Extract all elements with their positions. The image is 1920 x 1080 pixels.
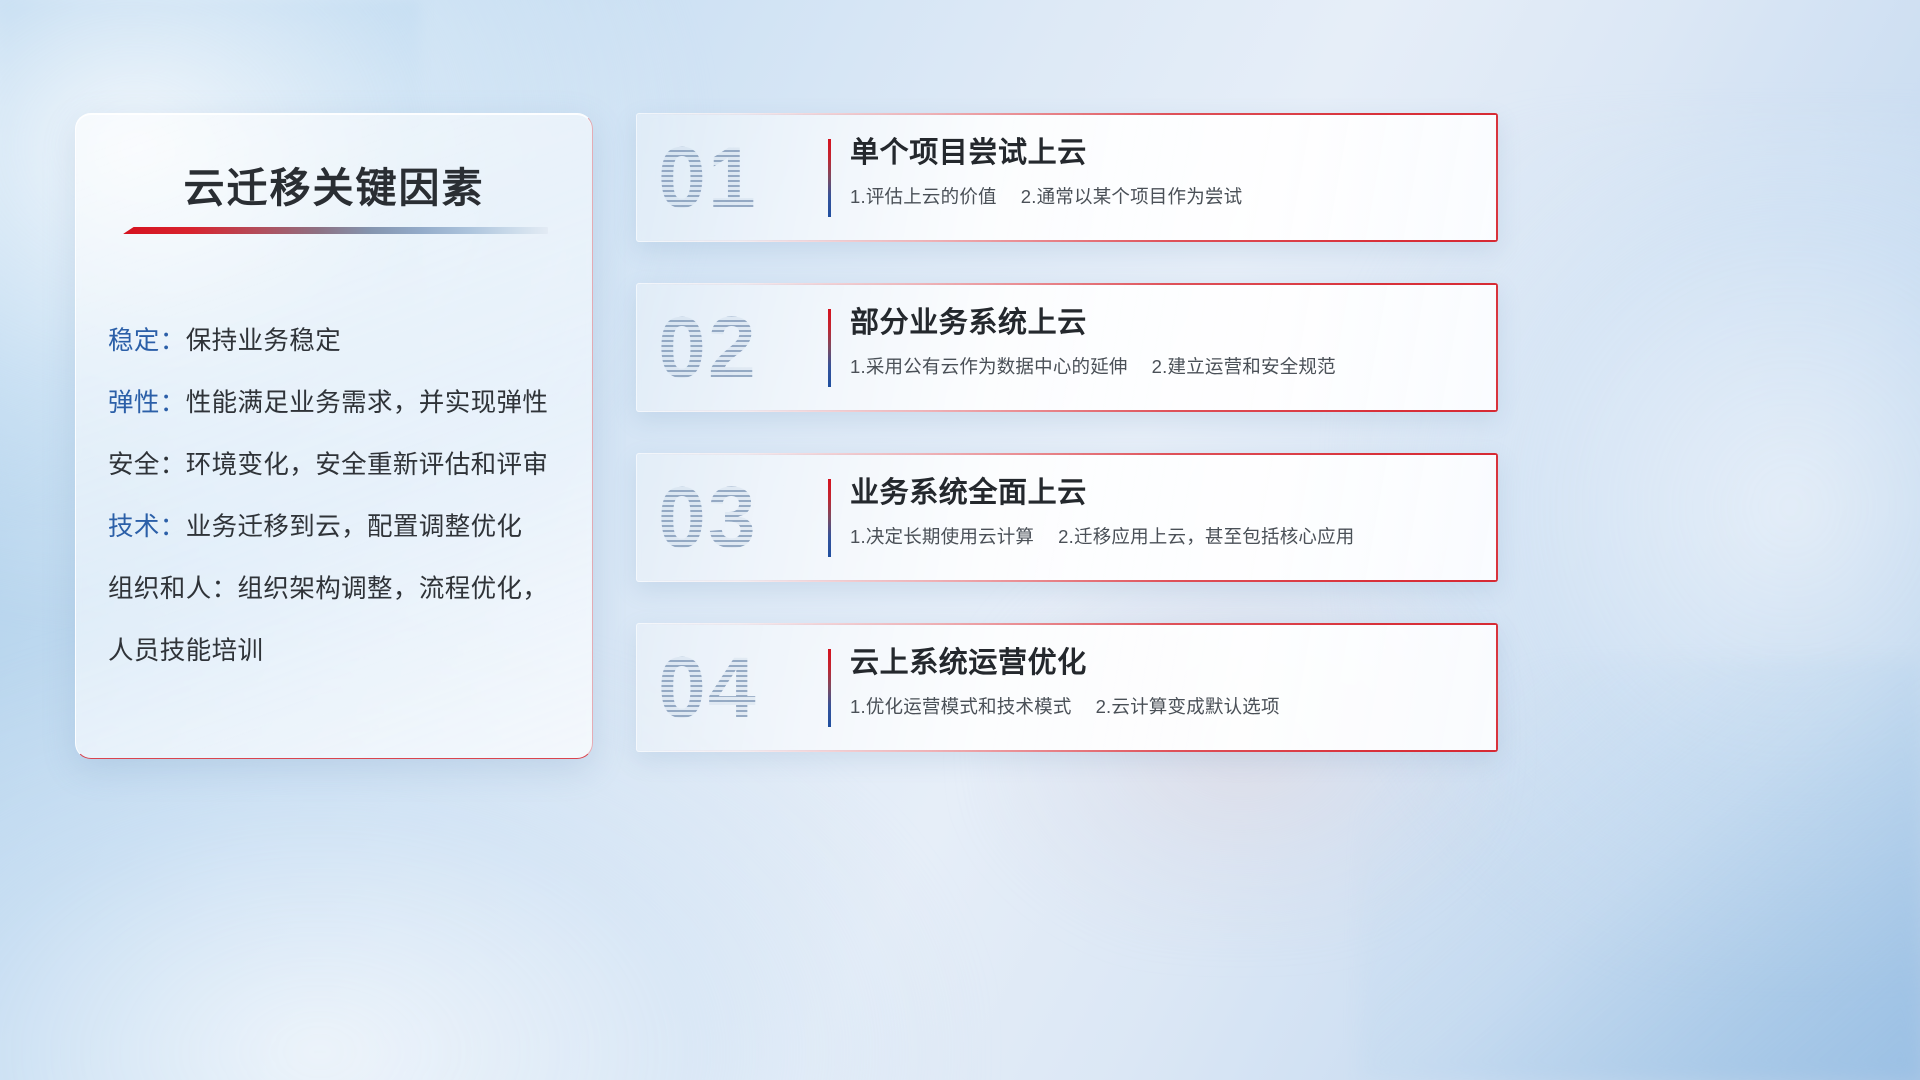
page-title: 云迁移关键因素 [76,154,592,214]
step-body: 业务系统全面上云1.决定长期使用云计算 2.迁移应用上云，甚至包括核心应用 [850,475,1474,549]
step-number: 02 [658,305,758,391]
key-factors-panel-inner: 云迁移关键因素 稳定：保持业务稳定弹性：性能满足业务需求，并实现弹性安全：环境变… [76,114,592,758]
step-title: 部分业务系统上云 [850,305,1474,341]
migration-steps-list: 0101单个项目尝试上云1.评估上云的价值 2.通常以某个项目作为尝试0202部… [636,113,1498,793]
step-number: 04 [658,645,758,731]
step-card[interactable]: 0404云上系统运营优化1.优化运营模式和技术模式 2.云计算变成默认选项 [636,623,1498,752]
factor-label: 安全： [108,451,186,479]
step-card-right-edge [1496,453,1498,582]
step-body: 云上系统运营优化1.优化运营模式和技术模式 2.云计算变成默认选项 [850,645,1474,719]
step-divider-bar [828,139,831,217]
step-title: 业务系统全面上云 [850,475,1474,511]
step-card[interactable]: 0303业务系统全面上云1.决定长期使用云计算 2.迁移应用上云，甚至包括核心应… [636,453,1498,582]
step-card-right-edge [1496,623,1498,752]
factor-row: 人员技能培训 [108,620,568,682]
factor-text: 组织架构调整，流程优化， [238,575,549,603]
step-body: 单个项目尝试上云1.评估上云的价值 2.通常以某个项目作为尝试 [850,135,1474,209]
factor-row: 弹性：性能满足业务需求，并实现弹性 [108,372,568,434]
step-divider-bar [828,479,831,557]
factor-text: 业务迁移到云，配置调整优化 [186,513,523,541]
factor-text: 保持业务稳定 [186,327,341,355]
factor-text: 人员技能培训 [108,637,263,665]
step-description: 1.决定长期使用云计算 2.迁移应用上云，甚至包括核心应用 [850,523,1474,549]
step-description: 1.评估上云的价值 2.通常以某个项目作为尝试 [850,183,1474,209]
factor-label: 弹性： [108,389,186,417]
title-underline-rule [123,227,548,234]
step-body: 部分业务系统上云1.采用公有云作为数据中心的延伸 2.建立运营和安全规范 [850,305,1474,379]
factor-list: 稳定：保持业务稳定弹性：性能满足业务需求，并实现弹性安全：环境变化，安全重新评估… [108,310,568,682]
factor-label: 技术： [108,513,186,541]
step-description: 1.优化运营模式和技术模式 2.云计算变成默认选项 [850,693,1474,719]
step-divider-bar [828,649,831,727]
step-number: 01 [658,135,758,221]
step-title: 单个项目尝试上云 [850,135,1474,171]
factor-row: 组织和人：组织架构调整，流程优化， [108,558,568,620]
step-description: 1.采用公有云作为数据中心的延伸 2.建立运营和安全规范 [850,353,1474,379]
slide-stage: 云迁移关键因素 稳定：保持业务稳定弹性：性能满足业务需求，并实现弹性安全：环境变… [0,0,1920,1080]
factor-row: 稳定：保持业务稳定 [108,310,568,372]
step-number: 03 [658,475,758,561]
factor-row: 安全：环境变化，安全重新评估和评审 [108,434,568,496]
step-card-right-edge [1496,283,1498,412]
step-title: 云上系统运营优化 [850,645,1474,681]
factor-label: 稳定： [108,327,186,355]
step-card[interactable]: 0101单个项目尝试上云1.评估上云的价值 2.通常以某个项目作为尝试 [636,113,1498,242]
step-card[interactable]: 0202部分业务系统上云1.采用公有云作为数据中心的延伸 2.建立运营和安全规范 [636,283,1498,412]
factor-text: 环境变化，安全重新评估和评审 [186,451,549,479]
factor-label: 组织和人： [108,575,238,603]
step-divider-bar [828,309,831,387]
factor-row: 技术：业务迁移到云，配置调整优化 [108,496,568,558]
step-card-right-edge [1496,113,1498,242]
factor-text: 性能满足业务需求，并实现弹性 [186,389,549,417]
key-factors-panel: 云迁移关键因素 稳定：保持业务稳定弹性：性能满足业务需求，并实现弹性安全：环境变… [75,113,593,759]
